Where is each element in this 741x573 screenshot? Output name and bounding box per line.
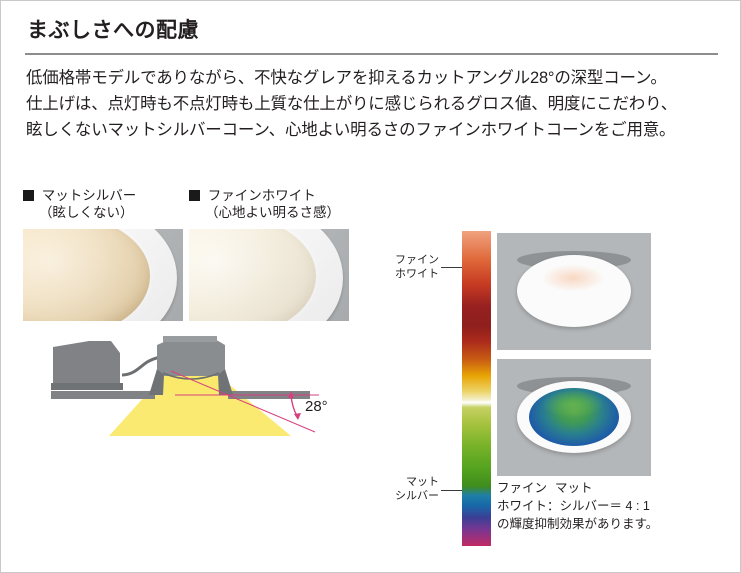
title-divider [25, 53, 718, 55]
sample-label-white-line1: ファインホワイト [208, 188, 316, 203]
scale-label-white-line1: ファイン [395, 254, 439, 266]
ratio-caption-white: ホワイト [497, 499, 547, 513]
housing-top [163, 336, 217, 342]
scale-label-matte-silver: マット シルバー [387, 475, 439, 503]
scale-leader-line-bottom [441, 490, 462, 491]
ceiling-slab-left [51, 391, 155, 399]
page-title: まぶしさへの配慮 [27, 14, 199, 44]
lead-line-3: 眩しくないマットシルバーコーン、心地よい明るさのファインホワイトコーンをご用意。 [26, 117, 726, 143]
sample-label-matte-line1: マットシルバー [42, 188, 137, 203]
ratio-caption-line3: の輝度抑制効果があります。 [497, 515, 732, 533]
sample-label-white-line2: （心地よい明るさ感） [189, 204, 340, 221]
square-bullet-icon [23, 190, 34, 201]
luminance-color-scale [462, 231, 491, 546]
angle-arrow-bottom [294, 413, 301, 420]
sample-photo-matte-silver [23, 229, 183, 321]
photo-shading [23, 229, 183, 321]
scale-label-matte-line2: シルバー [395, 490, 439, 502]
lead-line-2: 仕上げは、点灯時も不点灯時も上質な仕上がりに感じられるグロス値、明度にこだわり、 [26, 91, 726, 117]
luminance-hotspot [543, 265, 603, 291]
scale-leader-line-top [441, 267, 462, 268]
cut-angle-label: 28° [305, 398, 328, 415]
sample-label-fine-white: ファインホワイト （心地よい明るさ感） [189, 187, 340, 221]
lead-paragraph: 低価格帯モデルでありながら、不快なグレアを抑えるカットアングル28°の深型コーン… [26, 65, 726, 143]
ratio-caption-silver: シルバー [560, 499, 610, 513]
square-bullet-icon [189, 190, 200, 201]
product-spec-page: まぶしさへの配慮 低価格帯モデルでありながら、不快なグレアを抑えるカットアングル… [0, 0, 741, 573]
ratio-caption-line2: ホワイト：シルバー＝ 4 : 1 [497, 497, 732, 515]
ratio-caption-line1: ファインマット [497, 479, 732, 497]
photo-shading [189, 229, 349, 321]
lead-line-1: 低価格帯モデルでありながら、不快なグレアを抑えるカットアングル28°の深型コーン… [26, 65, 726, 91]
ratio-caption-fine: ファイン [497, 479, 555, 497]
fixture-housing [157, 338, 225, 376]
luminance-map-fine-white [497, 233, 651, 350]
driver-box [53, 341, 120, 389]
luminance-hotspot [543, 391, 603, 417]
cut-angle-diagram: 28° [23, 331, 368, 466]
sample-label-matte-silver: マットシルバー （眩しくない） [23, 187, 136, 221]
driver-base [51, 383, 123, 390]
ratio-caption-matte: マット [555, 481, 593, 495]
scale-label-white-line2: ホワイト [395, 268, 439, 280]
sample-photo-fine-white [189, 229, 349, 321]
sample-label-matte-line2: （眩しくない） [23, 204, 136, 221]
luminance-map-matte-silver [497, 359, 651, 476]
ratio-caption-value: ＝ 4 : 1 [610, 499, 650, 513]
ratio-caption: ファインマット ホワイト：シルバー＝ 4 : 1 の輝度抑制効果があります。 [497, 479, 732, 533]
scale-label-matte-line1: マット [406, 476, 439, 488]
scale-label-fine-white: ファイン ホワイト [387, 253, 439, 281]
